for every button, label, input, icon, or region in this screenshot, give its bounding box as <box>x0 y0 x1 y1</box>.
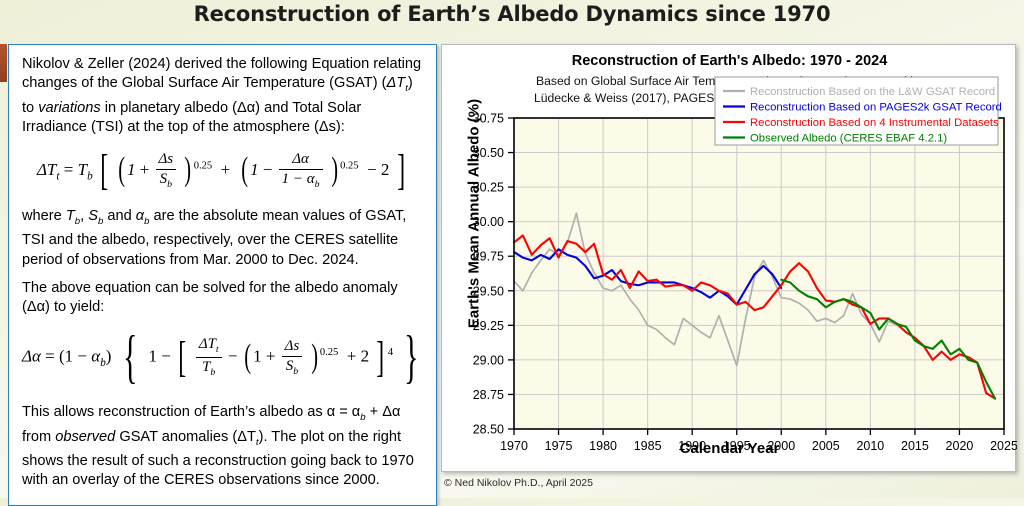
x-axis-tick-label: 1985 <box>634 439 662 453</box>
x-axis-tick-label: 1975 <box>545 439 573 453</box>
x-axis-tick-label: 1990 <box>678 439 706 453</box>
x-axis-tick-label: 1980 <box>589 439 617 453</box>
where-text-a: where <box>22 208 66 224</box>
x-axis-tick-label: 1995 <box>723 439 751 453</box>
x-axis-tick-label: 2005 <box>812 439 840 453</box>
y-axis-tick-label: 29.75 <box>473 250 504 264</box>
conclusion-text-a: This allows reconstruction of Earth’s al… <box>22 404 360 420</box>
x-axis-tick-label: 1970 <box>500 439 528 453</box>
y-axis-tick-label: 29.00 <box>473 353 504 367</box>
chart-legend: Reconstruction Based on the L&W GSAT Rec… <box>715 77 1002 145</box>
legend-label: Observed Albedo (CERES EBAF 4.2.1) <box>750 133 947 145</box>
accent-bar <box>0 44 7 82</box>
equation-delta-alpha: Δα = (1 − αb) { 1 − [ ΔTtTb − (1 + ΔsSb … <box>22 323 423 392</box>
y-axis-tick-label: 29.50 <box>473 284 504 298</box>
intro-text-a: Nikolov & Zeller (2024) derived the foll… <box>22 56 421 91</box>
x-axis-tick-label: 2020 <box>946 439 974 453</box>
chart-panel: Reconstruction of Earth's Albedo: 1970 -… <box>441 44 1016 472</box>
y-axis-tick-label: 30.00 <box>473 215 504 229</box>
where-text-c: and <box>103 208 135 224</box>
y-axis-tick-label: 28.50 <box>473 423 504 437</box>
paragraph-solve: The above equation can be solved for the… <box>22 279 423 318</box>
legend-label: Reconstruction Based on 4 Instrumental D… <box>750 117 999 129</box>
conclusion-emphasis: observed <box>55 429 115 445</box>
y-axis-tick-label: 30.50 <box>473 146 504 160</box>
paragraph-intro: Nikolov & Zeller (2024) derived the foll… <box>22 55 423 137</box>
y-axis-tick-label: 28.75 <box>473 388 504 402</box>
equation-delta-t: ΔTt = Tb [ (1 + ΔsSb )0.25 + (1 − Δα1 − … <box>22 146 423 196</box>
paragraph-conclusion: This allows reconstruction of Earth’s al… <box>22 403 423 490</box>
page-title: Reconstruction of Earth’s Albedo Dynamic… <box>0 2 1024 26</box>
symbol-S: S <box>88 208 98 224</box>
albedo-line-chart: 28.5028.7529.0029.2529.5029.7530.0030.25… <box>442 45 1017 473</box>
legend-label: Reconstruction Based on the L&W GSAT Rec… <box>750 86 995 98</box>
paragraph-where: where Tb, Sb and αb are the absolute mea… <box>22 207 423 270</box>
y-axis-tick-label: 30.75 <box>473 112 504 126</box>
symbol-alpha: α <box>136 208 144 224</box>
plot-background <box>514 118 1004 429</box>
x-axis-tick-label: 2015 <box>901 439 929 453</box>
x-axis-tick-label: 2000 <box>767 439 795 453</box>
x-axis-tick-label: 2010 <box>856 439 884 453</box>
delta-t-symbol: ΔT <box>386 75 405 91</box>
symbol-T: T <box>66 208 75 224</box>
conclusion-text-c: GSAT anomalies (ΔT <box>115 429 256 445</box>
legend-label: Reconstruction Based on PAGES2k GSAT Rec… <box>750 102 1002 114</box>
y-axis-tick-label: 30.25 <box>473 181 504 195</box>
explanation-panel: Nikolov & Zeller (2024) derived the foll… <box>8 44 437 506</box>
x-axis-tick-label: 2025 <box>990 439 1017 453</box>
copyright-credit: © Ned Nikolov Ph.D., April 2025 <box>444 477 593 489</box>
where-text-b: , <box>80 208 88 224</box>
y-axis-tick-label: 29.25 <box>473 319 504 333</box>
intro-emphasis: variations <box>38 100 100 116</box>
